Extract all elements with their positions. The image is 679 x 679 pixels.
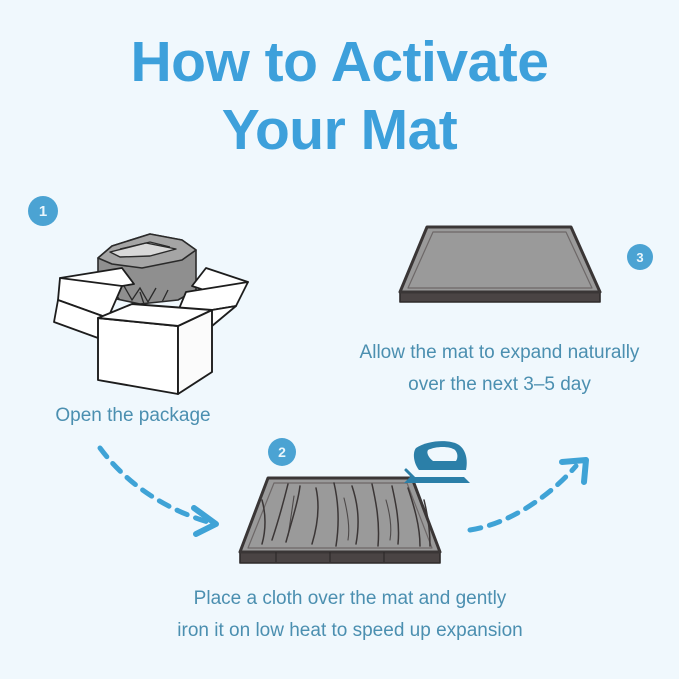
- dashed-arrow-down-right: [100, 448, 216, 534]
- wrinkled-mat-icon: [240, 478, 440, 563]
- step-1-caption-line: Open the package: [55, 405, 210, 426]
- title-line-1: How to Activate: [0, 28, 679, 96]
- infographic-poster: How to Activate Your Mat: [0, 0, 679, 679]
- step-2-caption: Place a cloth over the mat and gently ir…: [100, 583, 600, 647]
- rolled-mat-in-box: [98, 234, 196, 304]
- step-badge-3: 3: [627, 244, 653, 270]
- step-badge-2: 2: [268, 438, 296, 466]
- title-line-2: Your Mat: [0, 96, 679, 164]
- step-3-caption-line-2: over the next 3–5 day: [320, 369, 679, 401]
- step-3-caption-line-1: Allow the mat to expand naturally: [320, 337, 679, 369]
- step-badge-1: 1: [28, 196, 58, 226]
- dashed-arrow-up-right: [470, 460, 586, 530]
- step-2-caption-line-2: iron it on low heat to speed up expansio…: [100, 615, 600, 647]
- cardboard-box-icon: [54, 234, 248, 394]
- page-title: How to Activate Your Mat: [0, 28, 679, 164]
- flat-mat-icon: [400, 227, 600, 302]
- step-2-caption-line-1: Place a cloth over the mat and gently: [100, 583, 600, 615]
- iron-icon: [404, 441, 470, 483]
- step-3-caption: Allow the mat to expand naturally over t…: [320, 337, 679, 401]
- step-1-caption: Open the package: [0, 400, 266, 432]
